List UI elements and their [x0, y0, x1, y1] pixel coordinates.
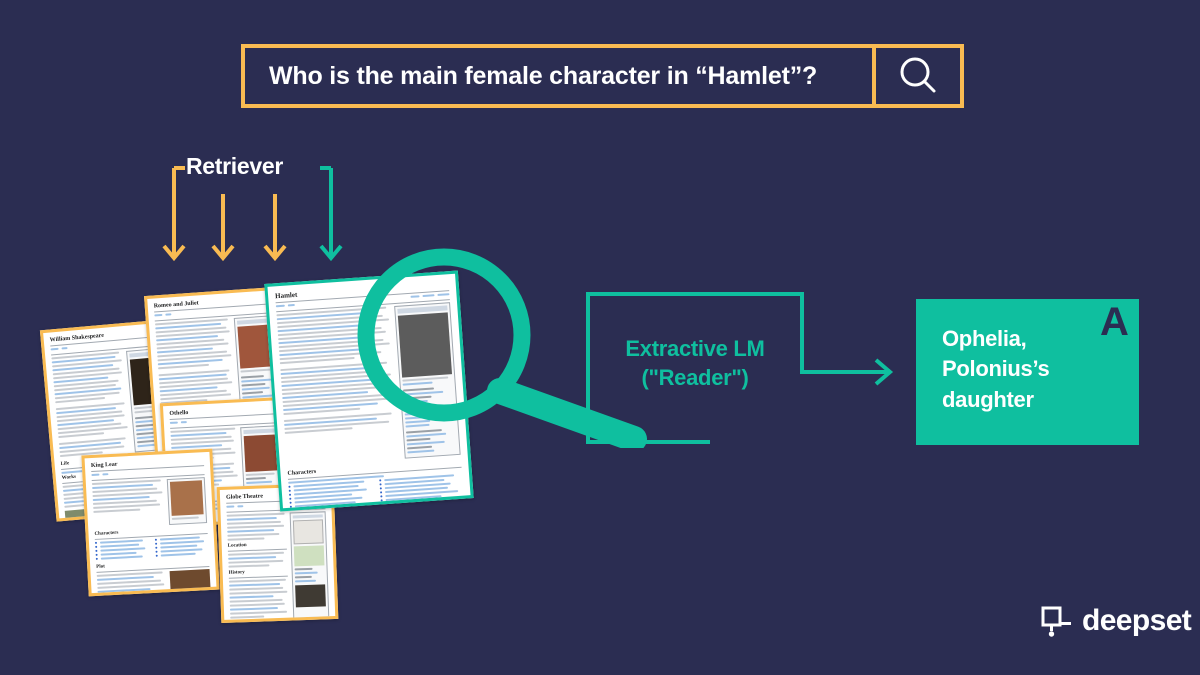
reader-label: Extractive LM ("Reader")	[600, 334, 790, 392]
deepset-logo-mark	[1040, 604, 1074, 638]
reader-label-line2: ("Reader")	[600, 363, 790, 392]
document-section-heading: Location	[228, 542, 287, 549]
reader-label-line1: Extractive LM	[600, 334, 790, 363]
document-infobox	[290, 511, 330, 618]
infobox-map	[294, 545, 325, 566]
infobox-thumbnail	[170, 480, 204, 516]
document-infobox	[167, 477, 207, 525]
document-image	[170, 569, 212, 596]
document-king-lear[interactable]: King Lear Characters	[81, 449, 219, 597]
answer-text: Ophelia, Polonius’s daughter	[942, 324, 1092, 415]
answer-badge: A	[1100, 302, 1129, 342]
document-section-heading: History	[229, 569, 288, 576]
deepset-logo-text: deepset	[1082, 604, 1191, 638]
diagram-canvas: Who is the main female character in “Ham…	[0, 0, 1200, 675]
infobox-thumbnail	[244, 434, 280, 472]
deepset-logo: deepset	[1040, 604, 1191, 638]
infobox-diagram	[293, 519, 324, 544]
infobox-photo	[295, 584, 326, 607]
